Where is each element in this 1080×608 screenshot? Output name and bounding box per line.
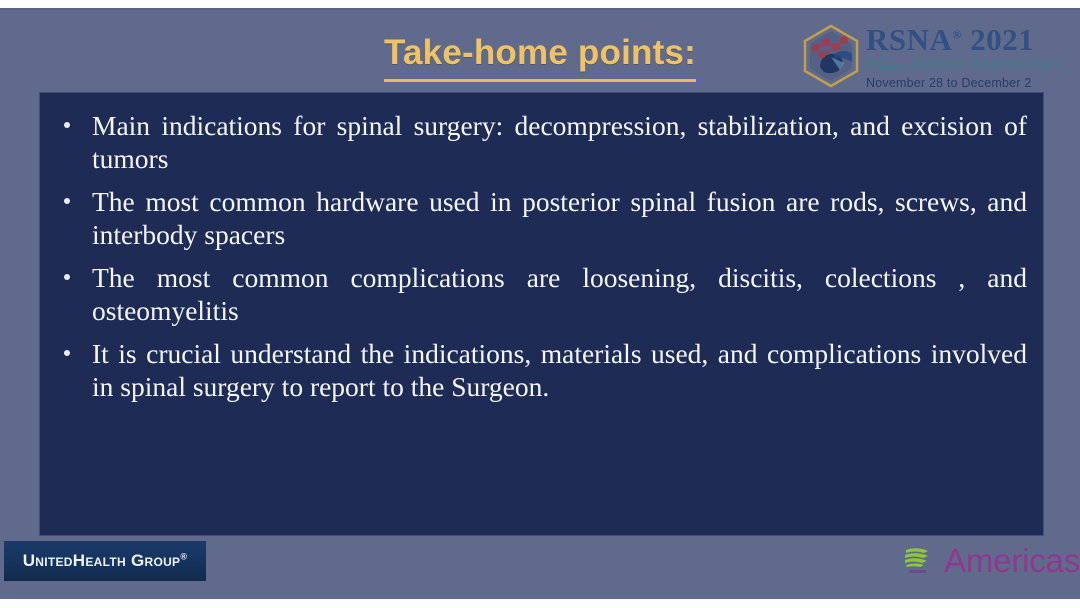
rsna-wordmark: RSNA® 2021 <box>866 24 1068 55</box>
rsna-logo: RSNA® 2021 REDEFINING RADIOLOGY November… <box>800 18 1068 94</box>
bullet-dot-icon <box>64 350 70 356</box>
bullet-text: The most common complications are loosen… <box>92 262 1027 326</box>
bullet-dot-icon <box>64 274 70 280</box>
rsna-logo-text: RSNA® 2021 REDEFINING RADIOLOGY November… <box>866 22 1068 91</box>
list-item: Main indications for spinal surgery: dec… <box>54 109 1027 175</box>
uhg-registered-mark: ® <box>180 551 187 561</box>
americas-wordmark: Americas <box>944 544 1080 577</box>
bullet-text: It is crucial understand the indications… <box>92 338 1027 402</box>
rsna-registered-mark: ® <box>952 27 961 41</box>
top-letterbox-strip <box>0 0 1080 8</box>
list-item: It is crucial understand the indications… <box>54 337 1027 403</box>
unitedhealth-group-label: UnitedHealth Group® <box>23 551 188 571</box>
footer-bar: UnitedHealth Group® Americas <box>0 535 1080 599</box>
rsna-hexagon-hand-icon <box>800 23 862 89</box>
rsna-dates: November 28 to December 2 <box>866 76 1068 90</box>
uhg-wordmark: UnitedHealth Group <box>23 551 181 570</box>
list-item: The most common hardware used in posteri… <box>54 185 1027 251</box>
bottom-letterbox-strip <box>0 599 1080 608</box>
bullet-text: The most common hardware used in posteri… <box>92 186 1027 250</box>
bullet-text: Main indications for spinal surgery: dec… <box>92 110 1027 174</box>
page-title: Take-home points: <box>384 32 696 82</box>
leaf-icon <box>900 544 934 576</box>
bullet-list: Main indications for spinal surgery: dec… <box>40 93 1043 403</box>
unitedhealth-group-logo: UnitedHealth Group® <box>4 541 206 581</box>
rsna-tagline: REDEFINING RADIOLOGY <box>866 57 1068 74</box>
slide-canvas: Take-home points: <box>0 8 1080 599</box>
rsna-year: 2021 <box>970 22 1034 57</box>
bullet-dot-icon <box>64 198 70 204</box>
rsna-name: RSNA <box>866 22 952 57</box>
list-item: The most common complications are loosen… <box>54 261 1027 327</box>
bullet-dot-icon <box>64 122 70 128</box>
content-box: Main indications for spinal surgery: dec… <box>40 93 1043 535</box>
slide-root: Take-home points: <box>0 0 1080 608</box>
americas-logo: Americas <box>900 539 1080 581</box>
